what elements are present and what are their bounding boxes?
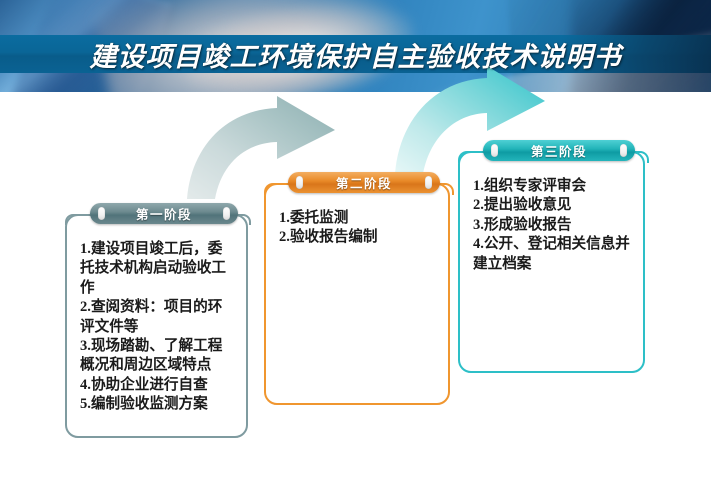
stage-3-connector-left [458,151,474,163]
stage-3-connector-right [633,151,649,163]
stage-1-label: 第一阶段 [136,204,192,223]
stage-1-item-1: 1.建设项目竣工后，委托技术机构启动验收工作 [80,240,236,298]
stage-1-content: 1.建设项目竣工后，委托技术机构启动验收工作 2.查阅资料：项目的环评文件等 3… [67,216,246,421]
stage-2-header-pill[interactable]: 第二阶段 [288,172,440,193]
stage-2-connector-right [438,183,454,195]
stage-3-item-2: 2.提出验收意见 [473,196,633,215]
eyelet-left-icon [296,176,303,189]
stage-2-label: 第二阶段 [336,173,392,192]
eyelet-right-icon [223,207,230,220]
stage-1-item-4: 4.协助企业进行自查 [80,376,236,395]
stage-2-connector-left [264,183,280,195]
stage-1-item-2: 2.查阅资料：项目的环评文件等 [80,298,236,337]
stage-3-label: 第三阶段 [531,141,587,160]
stage-1-item-3: 3.现场踏勘、了解工程概况和周边区域特点 [80,337,236,376]
stage-box-2[interactable]: 1.委托监测 2.验收报告编制 [264,183,450,405]
stage-1-connector-right [236,214,251,225]
eyelet-right-icon [425,176,432,189]
stage-3-header-pill[interactable]: 第三阶段 [483,140,635,161]
stage-box-3[interactable]: 1.组织专家评审会 2.提出验收意见 3.形成验收报告 4.公开、登记相关信息并… [458,151,645,373]
stage-3-item-3: 3.形成验收报告 [473,216,633,235]
stage-2-item-2: 2.验收报告编制 [279,228,438,247]
stage-1-header-pill[interactable]: 第一阶段 [90,203,238,224]
slide-canvas: 建设项目竣工环境保护自主验收技术说明书 1.建设项目竣工后 [0,0,711,480]
eyelet-right-icon [620,144,627,157]
stage-3-item-1: 1.组织专家评审会 [473,177,633,196]
eyelet-left-icon [98,207,105,220]
title-bar: 建设项目竣工环境保护自主验收技术说明书 [0,35,711,73]
stage-2-item-1: 1.委托监测 [279,209,438,228]
page-title: 建设项目竣工环境保护自主验收技术说明书 [0,35,711,74]
stage-box-1[interactable]: 1.建设项目竣工后，委托技术机构启动验收工作 2.查阅资料：项目的环评文件等 3… [65,214,248,438]
eyelet-left-icon [491,144,498,157]
stage-1-item-5: 5.编制验收监测方案 [80,395,236,414]
stage-3-item-4: 4.公开、登记相关信息并建立档案 [473,235,633,274]
stage-1-connector-left [65,214,80,225]
